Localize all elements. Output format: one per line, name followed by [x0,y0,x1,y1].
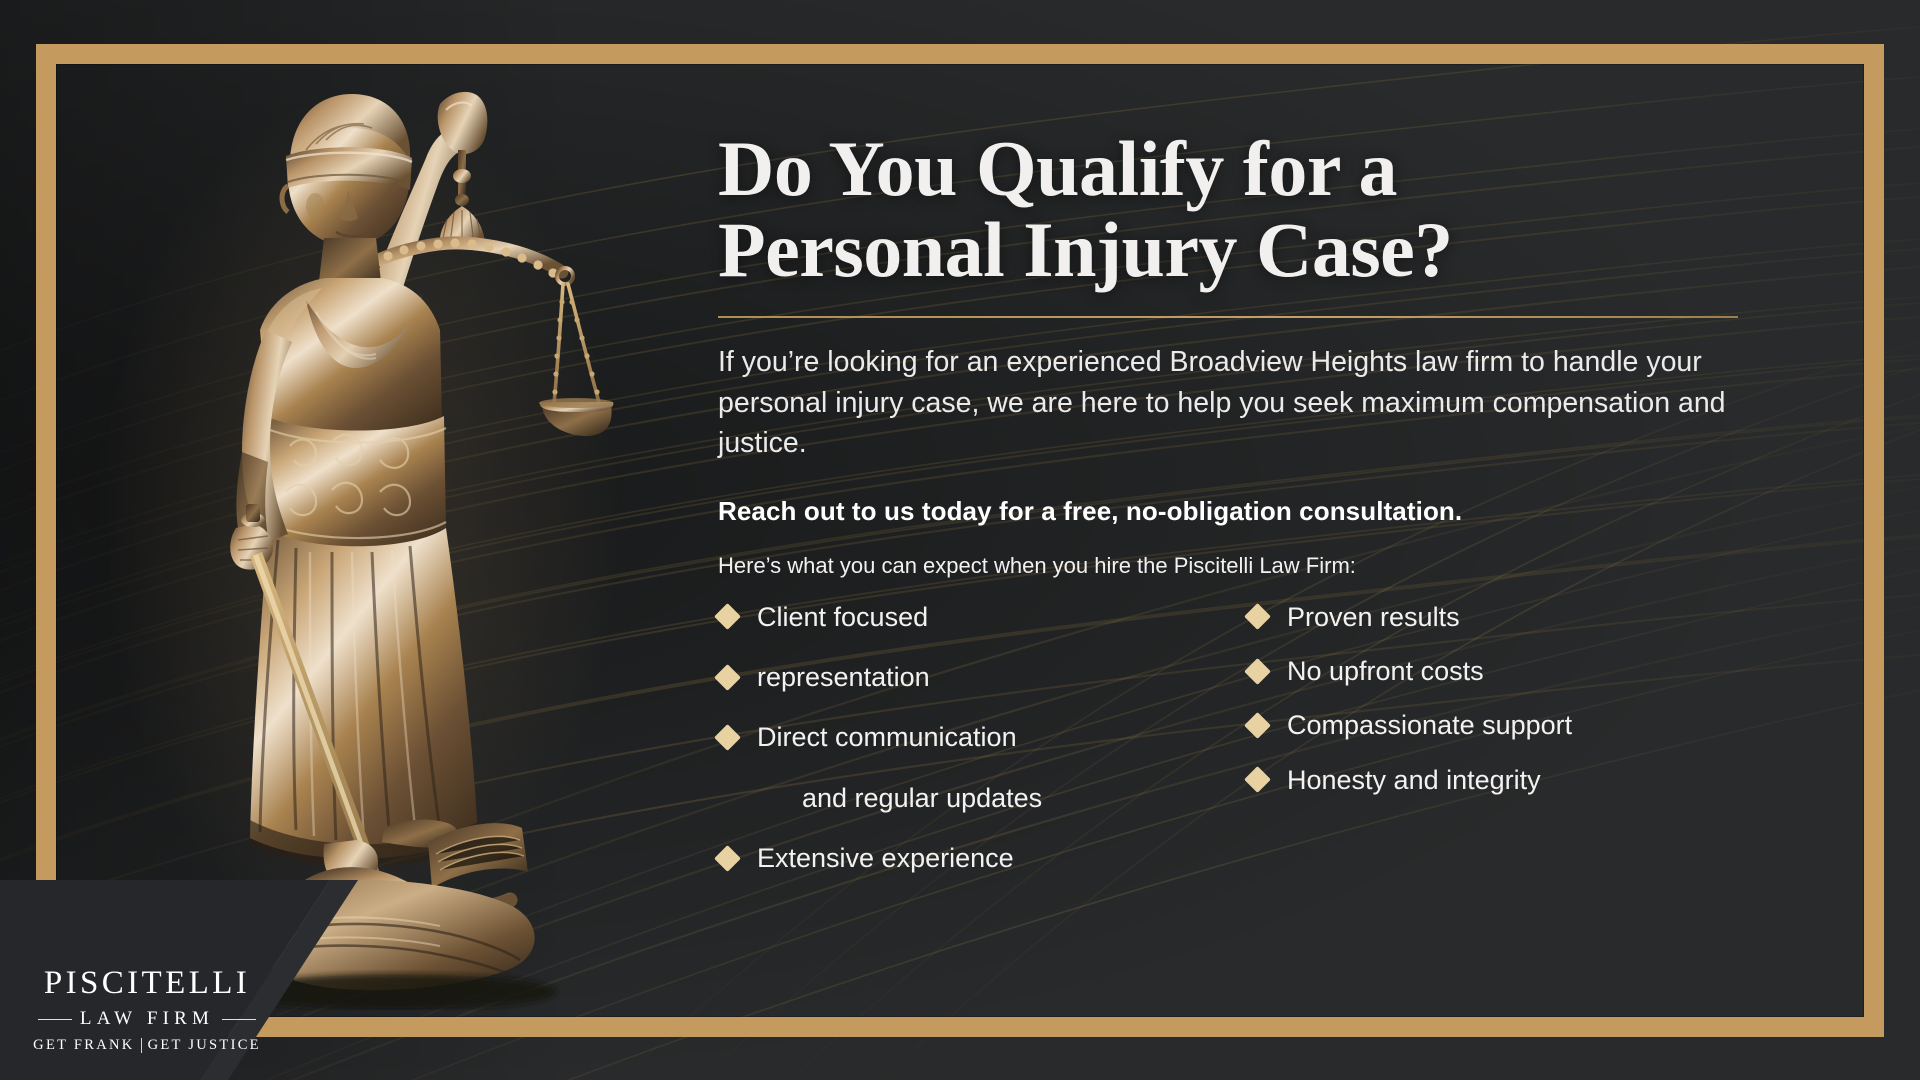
list-item-label: Proven results [1287,601,1460,633]
diamond-bullet-icon [1244,767,1271,794]
logo-tagline-left: GET FRANK [33,1037,134,1054]
expect-intro-text: Here’s what you can expect when you hire… [718,553,1778,579]
diamond-bullet-icon [714,724,741,751]
piscitelli-law-firm-logo[interactable]: PISCITELLI LAW FIRM GET FRANK GET JUSTIC… [22,967,272,1054]
logo-tagline-right: GET JUSTICE [148,1037,261,1054]
logo-subtitle-row: LAW FIRM [22,1008,272,1030]
benefits-column-right: Proven results No upfront costs Compassi… [1248,601,1718,903]
logo-rule-right [222,1019,256,1020]
list-item-label: representation [757,661,930,693]
list-item: representation [718,661,1148,693]
content-column: Do You Qualify for a Personal Injury Cas… [718,128,1778,903]
logo-firm-name: PISCITELLI [22,967,272,1000]
diamond-bullet-icon [714,845,741,872]
page-title: Do You Qualify for a Personal Injury Cas… [718,128,1778,290]
list-item: Direct communication [718,721,1148,753]
logo-tagline-separator [141,1038,142,1053]
logo-subtitle: LAW FIRM [80,1008,214,1030]
benefits-list: Client focused representation Direct com… [718,601,1778,903]
cta-text: Reach out to us today for a free, no-obl… [718,496,1778,527]
benefits-column-left: Client focused representation Direct com… [718,601,1148,903]
list-item: Honesty and integrity [1248,764,1718,796]
headline-line-1: Do You Qualify for a [718,125,1397,212]
diamond-bullet-icon [1244,603,1271,630]
list-item: Client focused [718,601,1148,633]
gold-divider [718,316,1738,318]
list-item-label: Extensive experience [757,842,1014,874]
lead-paragraph: If you’re looking for an experienced Bro… [718,342,1728,463]
list-item-label: Compassionate support [1287,709,1572,741]
diamond-bullet-icon [714,664,741,691]
logo-tagline: GET FRANK GET JUSTICE [22,1037,272,1054]
list-item-label: and regular updates [802,782,1042,814]
list-item: Proven results [1248,601,1718,633]
list-item: Compassionate support [1248,709,1718,741]
diamond-bullet-icon [1244,712,1271,739]
list-item-label: Honesty and integrity [1287,764,1541,796]
list-item-label: No upfront costs [1287,655,1484,687]
list-item-label: Direct communication [757,721,1017,753]
list-item-label: Client focused [757,601,928,633]
diamond-bullet-icon [714,603,741,630]
list-item-continuation: and regular updates [718,782,1148,814]
headline-line-2: Personal Injury Case? [718,209,1778,290]
logo-rule-left [38,1019,72,1020]
list-item: No upfront costs [1248,655,1718,687]
list-item: Extensive experience [718,842,1148,874]
diamond-bullet-icon [1244,658,1271,685]
